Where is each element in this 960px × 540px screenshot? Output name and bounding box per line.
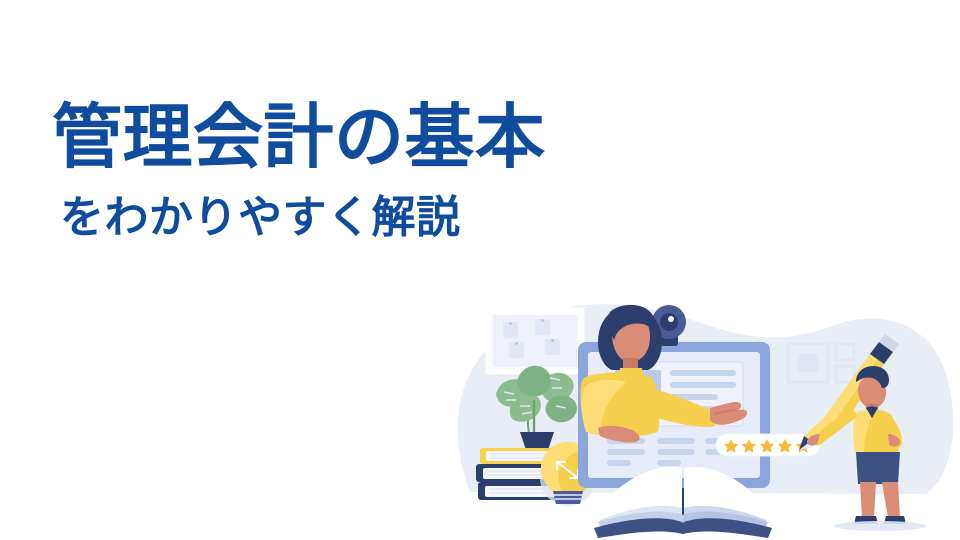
title-block: 管理会計の基本 をわかりやすく解説 bbox=[52, 100, 692, 243]
slide-canvas: 管理会計の基本 をわかりやすく解説 bbox=[0, 0, 960, 540]
ground-shadow bbox=[834, 521, 926, 531]
page-title: 管理会計の基本 bbox=[52, 100, 692, 174]
page-subtitle: をわかりやすく解説 bbox=[60, 194, 692, 242]
online-learning-illustration bbox=[452, 282, 960, 540]
bulletin-board bbox=[488, 310, 582, 372]
